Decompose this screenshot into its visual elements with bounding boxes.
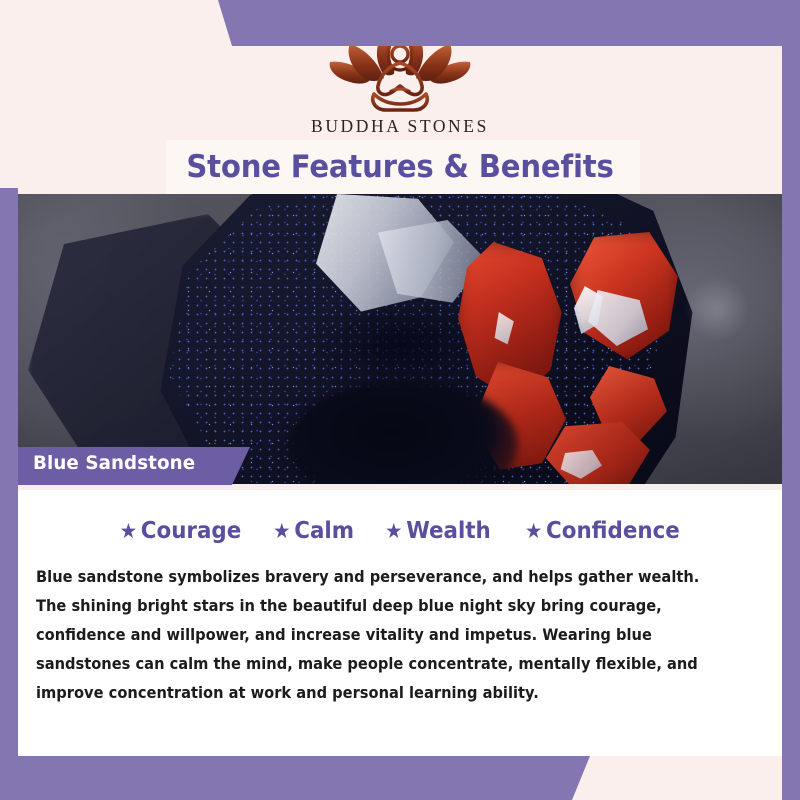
frame-right-bar (782, 0, 800, 800)
stone-description: Blue sandstone symbolizes bravery and pe… (36, 562, 706, 707)
star-icon: ★ (524, 521, 542, 542)
page-title: Stone Features & Benefits (24, 140, 776, 194)
frame-left-bar (0, 188, 18, 800)
keyword-label: Calm (294, 518, 354, 544)
product-photo (18, 194, 782, 484)
keyword-label: Courage (141, 518, 241, 544)
keyword-label: Wealth (406, 518, 491, 544)
keyword-label: Confidence (546, 518, 680, 544)
brand-name: BUDDHA STONES (0, 116, 800, 137)
photo-vignette (18, 194, 782, 484)
keyword-calm: ★ Calm (273, 518, 354, 544)
star-icon: ★ (273, 521, 291, 542)
keyword-courage: ★ Courage (119, 518, 241, 544)
stone-name-label: Blue Sandstone (33, 452, 195, 474)
keyword-wealth: ★ Wealth (385, 518, 491, 544)
benefit-keywords: ★ Courage ★ Calm ★ Wealth ★ Confidence (18, 518, 782, 544)
product-info-poster: BUDDHA STONES Stone Features & Benefits … (0, 0, 800, 800)
keyword-confidence: ★ Confidence (524, 518, 679, 544)
star-icon: ★ (385, 521, 403, 542)
star-icon: ★ (119, 521, 137, 542)
